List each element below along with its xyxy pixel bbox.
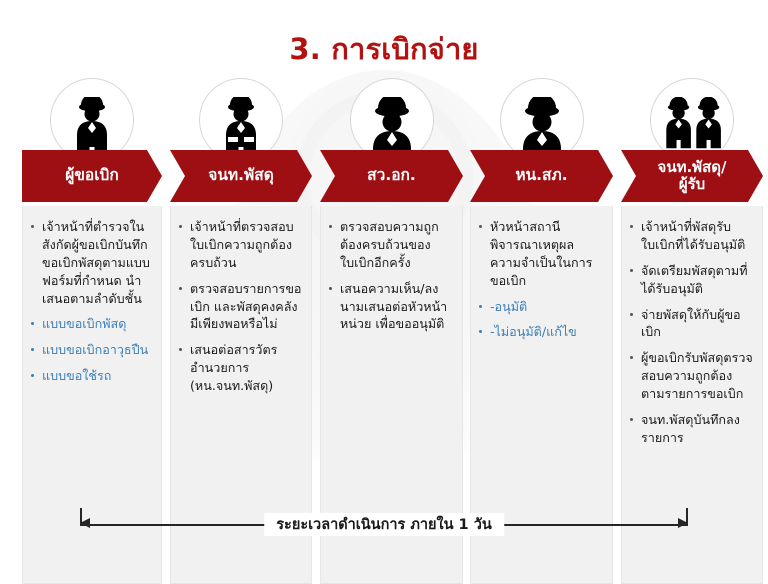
- list-item: จัดเตรียมพัสดุตามที่ได้รับอนุมัติ: [628, 262, 754, 298]
- step-header-1[interactable]: ผู้ขอเบิก: [22, 150, 162, 202]
- list-item: เจ้าหน้าที่ตรวจสอบใบเบิกความถูกต้องครบถ้…: [177, 218, 303, 272]
- arrow-right-icon: [678, 518, 688, 528]
- form-link-item[interactable]: แบบขอเบิกอาวุธปืน: [29, 341, 153, 359]
- list-item: เจ้าหน้าที่ตำรวจในสังกัดผู้ขอเบิกบันทึกข…: [29, 218, 153, 307]
- form-link-item[interactable]: แบบขอเบิกพัสดุ: [29, 315, 153, 333]
- list-item: เสนอความเห็น/ลงนามเสนอต่อหัวหน้าหน่วย เพ…: [327, 280, 454, 334]
- step-header-3[interactable]: สว.อก.: [320, 150, 463, 202]
- step-item-list: เจ้าหน้าที่ตำรวจในสังกัดผู้ขอเบิกบันทึกข…: [29, 218, 153, 385]
- two-police-officers-icon: [650, 78, 734, 162]
- step-header-2[interactable]: จนท.พัสดุ: [170, 150, 312, 202]
- police-officer-bust-icon: [350, 78, 434, 162]
- step-header-5[interactable]: จนท.พัสดุ/ผู้รับ: [621, 150, 763, 202]
- flow-diagram: 3. การเบิกจ่าย ผู้ขอเบิกเจ้าหน้าที่ตำรวจ…: [0, 0, 768, 576]
- form-link-item[interactable]: -ไม่อนุมัติ/แก้ไข: [477, 323, 604, 341]
- list-item: เสนอต่อสารวัตรอำนวยการ (หน.จนท.พัสดุ): [177, 341, 303, 395]
- list-item: ผู้ขอเบิกรับพัสดุตรวจสอบความถูกต้องตามรา…: [628, 349, 754, 403]
- police-chief-icon: [500, 78, 584, 162]
- list-item: ตรวจสอบรายการขอเบิก และพัสดุคงคลังมีเพีย…: [177, 280, 303, 334]
- arrow-left-icon: [80, 518, 90, 528]
- police-officer-belt-icon: [199, 78, 283, 162]
- step-item-list: ตรวจสอบความถูกต้องครบถ้วนของใบเบิกอีกครั…: [327, 218, 454, 333]
- step-item-list: หัวหน้าสถานีพิจารณาเหตุผลความจำเป็นในการ…: [477, 218, 604, 341]
- list-item: เจ้าหน้าที่พัสดุรับใบเบิกที่ได้รับอนุมัต…: [628, 218, 754, 254]
- duration-label: ระยะเวลาดำเนินการ ภายใน 1 วัน: [264, 513, 504, 536]
- form-link-item[interactable]: แบบขอใช้รถ: [29, 367, 153, 385]
- list-item: ตรวจสอบความถูกต้องครบถ้วนของใบเบิกอีกครั…: [327, 218, 454, 272]
- form-link-item[interactable]: -อนุมัติ: [477, 298, 604, 316]
- list-item: หัวหน้าสถานีพิจารณาเหตุผลความจำเป็นในการ…: [477, 218, 604, 290]
- list-item: จ่ายพัสดุให้กับผู้ขอเบิก: [628, 306, 754, 342]
- step-header-4[interactable]: หน.สภ.: [470, 150, 613, 202]
- step-item-list: เจ้าหน้าที่ตรวจสอบใบเบิกความถูกต้องครบถ้…: [177, 218, 303, 395]
- list-item: จนท.พัสดุบันทึกลงรายการ: [628, 411, 754, 447]
- page-title: 3. การเบิกจ่าย: [0, 26, 768, 72]
- police-officer-icon: [50, 78, 134, 162]
- step-item-list: เจ้าหน้าที่พัสดุรับใบเบิกที่ได้รับอนุมัต…: [628, 218, 754, 447]
- duration-bar: ระยะเวลาดำเนินการ ภายใน 1 วัน: [80, 506, 688, 542]
